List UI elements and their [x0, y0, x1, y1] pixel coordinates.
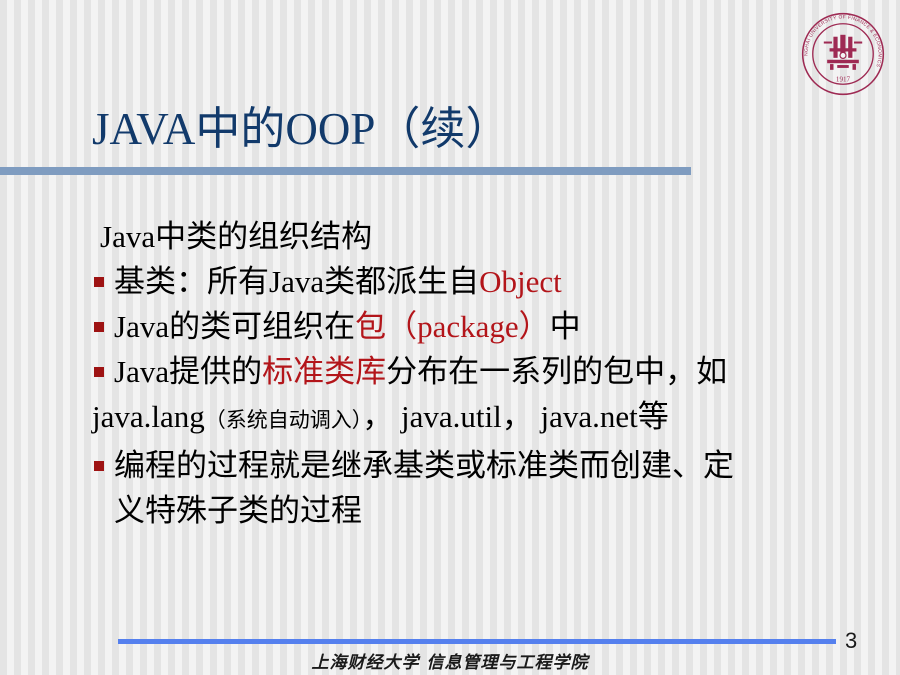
bullet-text-plain: 编程的过程就是继承基类或标准类而创建、定 — [114, 448, 734, 483]
package-note-auto-import: （系统自动调入） — [205, 408, 363, 432]
footer-rule — [118, 639, 836, 644]
page-number: 3 — [845, 628, 857, 654]
bullet-continuation-programming-process: 义特殊子类的过程 — [92, 488, 852, 533]
package-name-java-lang: java.lang — [92, 399, 205, 434]
square-bullet-icon — [94, 322, 104, 332]
title-underline-rule — [0, 167, 691, 175]
bullet-item-standard-library: Java提供的标准类库分布在一系列的包中，如 — [92, 349, 852, 394]
university-seal-logo: SHANGHAI UNIVERSITY OF FINANCE & ECONOMI… — [795, 6, 891, 102]
slide-body: Java中类的组织结构 基类：所有Java类都派生自Object Java的类可… — [92, 214, 852, 533]
square-bullet-icon — [94, 367, 104, 377]
square-bullet-icon — [94, 277, 104, 287]
package-name-list: ， java.util， java.net等 — [362, 399, 668, 434]
bullet-text-plain: Java提供的 — [114, 354, 262, 389]
bullet-text-tail: 分布在一系列的包中，如 — [386, 354, 727, 389]
footer-institution-name: 上海财经大学 信息管理与工程学院 — [0, 648, 900, 673]
bullet-text-plain: Java的类可组织在 — [114, 309, 355, 344]
slide-canvas: SHANGHAI UNIVERSITY OF FINANCE & ECONOMI… — [0, 0, 900, 675]
svg-text:SHANGHAI UNIVERSITY OF FINANCE: SHANGHAI UNIVERSITY OF FINANCE & ECONOMI… — [795, 6, 883, 68]
body-lead-line: Java中类的组织结构 — [92, 214, 852, 259]
bullet-text-highlight: Object — [479, 264, 562, 299]
bullet-item-base-class: 基类：所有Java类都派生自Object — [92, 259, 852, 304]
bullet-item-package: Java的类可组织在包（package）中 — [92, 304, 852, 349]
bullet-item-programming-process: 编程的过程就是继承基类或标准类而创建、定 — [92, 443, 852, 488]
svg-text:1917: 1917 — [836, 75, 851, 83]
bullet-continuation-standard-library: java.lang（系统自动调入）， java.util， java.net等 — [92, 394, 852, 443]
bullet-text-plain: 基类：所有Java类都派生自 — [114, 264, 479, 299]
square-bullet-icon — [94, 461, 104, 471]
page-title: JAVA中的OOP（续） — [92, 100, 792, 162]
bullet-text-tail: 中 — [550, 309, 581, 344]
bullet-text-highlight: 包（package） — [355, 309, 550, 344]
bullet-text-highlight: 标准类库 — [262, 354, 386, 389]
